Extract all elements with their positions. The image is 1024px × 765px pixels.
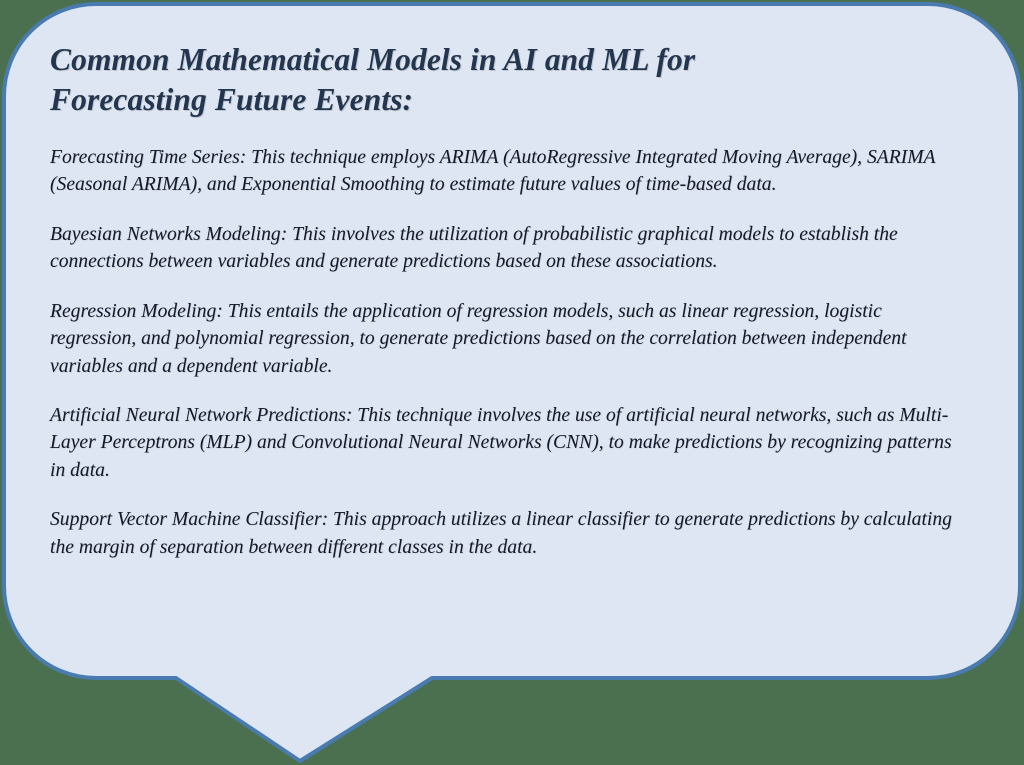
callout-body: Common Mathematical Models in AI and ML … <box>0 0 1024 690</box>
paragraph-lead: Bayesian Networks Modeling: <box>50 224 287 245</box>
paragraph-lead: Support Vector Machine Classifier: <box>50 509 328 530</box>
page-title: Common Mathematical Models in AI and ML … <box>50 40 850 120</box>
paragraph-lead: Regression Modeling: <box>50 301 223 322</box>
paragraph-artificial-neural-network-predictions: Artificial Neural Network Predictions: T… <box>50 402 970 484</box>
paragraph-bayesian-networks-modeling: Bayesian Networks Modeling: This involve… <box>50 221 970 276</box>
paragraph-lead: Artificial Neural Network Predictions: <box>50 405 352 426</box>
slide-canvas: Common Mathematical Models in AI and ML … <box>0 0 1024 765</box>
paragraph-support-vector-machine-classifier: Support Vector Machine Classifier: This … <box>50 506 970 561</box>
paragraph-forecasting-time-series: Forecasting Time Series: This technique … <box>50 144 970 199</box>
paragraph-lead: Forecasting Time Series: <box>50 147 246 168</box>
paragraph-regression-modeling: Regression Modeling: This entails the ap… <box>50 298 970 380</box>
